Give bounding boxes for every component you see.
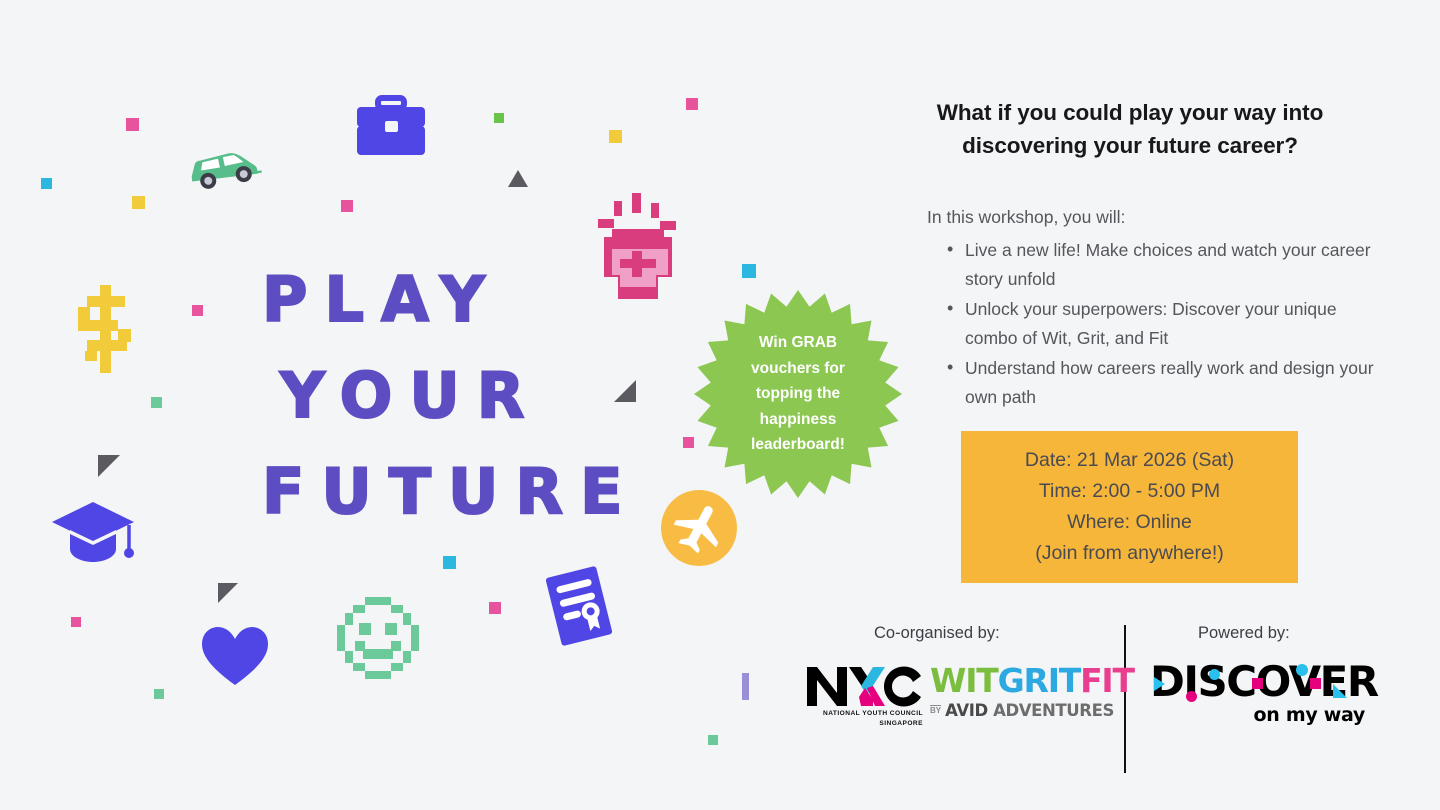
badge-line-5: leaderboard! (751, 432, 845, 458)
wgf-avid-adventures: AVID ADVENTURES (945, 701, 1114, 720)
confetti-square (154, 689, 164, 699)
confetti-triangle (218, 583, 238, 603)
prize-badge-text: Win GRAB vouchers for topping the happin… (692, 288, 904, 500)
nyc-logo: NATIONAL YOUTH COUNCIL SINGAPORE (805, 664, 923, 728)
confetti-square (609, 130, 622, 143)
confetti-square (341, 200, 353, 212)
poster-canvas: PLAY YOUR FUTURE Win GRAB vouchers for t… (0, 0, 1440, 810)
discover-logo: DISCOVER on my way (1150, 658, 1365, 726)
confetti-square (132, 196, 145, 209)
title-line-1: PLAY (262, 252, 682, 348)
badge-line-2: vouchers for (751, 356, 845, 382)
discover-accent-dot-cyan-2 (1296, 664, 1308, 676)
powered-by-label: Powered by: (1198, 624, 1290, 643)
discover-wordmark: DISCOVER (1150, 658, 1365, 706)
confetti-square (443, 556, 456, 569)
intro-text: In this workshop, you will: (927, 203, 1380, 232)
wgf-adventures: ADVENTURES (993, 701, 1114, 720)
badge-line-4: happiness (760, 407, 837, 433)
list-item: Unlock your superpowers: Discover your u… (947, 295, 1380, 353)
confetti-square (686, 98, 698, 110)
confetti-square (708, 735, 718, 745)
discover-accent-triangle-right (1333, 684, 1347, 698)
heart-icon (200, 625, 270, 687)
poster-title: PLAY YOUR FUTURE (262, 252, 682, 540)
witgritfit-byline: BY AVID ADVENTURES (930, 701, 1134, 720)
badge-line-1: Win GRAB (759, 330, 837, 356)
title-line-2: YOUR (262, 348, 682, 444)
discover-accent-square-magenta-2 (1310, 678, 1321, 689)
content-column: What if you could play your way into dis… (880, 96, 1380, 413)
benefits-list: Live a new life! Make choices and watch … (947, 236, 1380, 412)
badge-line-3: topping the (756, 381, 840, 407)
smiley-pixel-icon (335, 595, 420, 680)
event-location-note: (Join from anywhere!) (1035, 538, 1224, 569)
witgritfit-wordmark: WITGRITFIT (930, 664, 1134, 698)
wgf-fit: FIT (1080, 661, 1134, 700)
co-organised-label: Co-organised by: (874, 624, 1000, 643)
car-icon (185, 143, 265, 193)
discover-accent-dot-cyan-1 (1209, 669, 1220, 680)
event-time: Time: 2:00 - 5:00 PM (1039, 476, 1220, 507)
confetti-square (742, 264, 756, 278)
confetti-square (489, 602, 501, 614)
confetti-square (151, 397, 162, 408)
discover-tagline: on my way (1150, 704, 1365, 726)
confetti-square (192, 305, 203, 316)
title-line-3: FUTURE (262, 444, 682, 540)
headline-line-2: discovering your future career? (880, 129, 1380, 162)
confetti-triangle (98, 455, 120, 477)
nyc-sub-line-1: NATIONAL YOUTH COUNCIL (805, 709, 923, 719)
discover-accent-dot-magenta-1 (1186, 691, 1197, 702)
confetti-square (71, 617, 81, 627)
event-details-box: Date: 21 Mar 2026 (Sat) Time: 2:00 - 5:0… (961, 431, 1298, 583)
event-location: Where: Online (1067, 507, 1192, 538)
list-item: Understand how careers really work and d… (947, 354, 1380, 412)
confetti-triangle (508, 170, 528, 187)
nyc-sub-line-2: SINGAPORE (805, 719, 923, 729)
nyc-logo-mark (805, 664, 923, 708)
wgf-wit: WIT (930, 661, 998, 700)
wgf-avid: AVID (945, 701, 988, 720)
witgritfit-logo: WITGRITFIT BY AVID ADVENTURES (930, 664, 1134, 720)
wgf-by: BY (930, 705, 941, 716)
discover-accent-triangle-left (1154, 677, 1165, 691)
list-item: Live a new life! Make choices and watch … (947, 236, 1380, 294)
discover-accent-square-magenta (1252, 678, 1263, 689)
headline: What if you could play your way into dis… (880, 96, 1380, 162)
graduation-cap-icon (50, 500, 136, 568)
headline-line-1: What if you could play your way into (880, 96, 1380, 129)
dollar-pixel-icon (71, 285, 141, 373)
briefcase-icon (355, 95, 427, 157)
confetti-bar (742, 673, 749, 700)
event-date: Date: 21 Mar 2026 (Sat) (1025, 445, 1234, 476)
confetti-square (494, 113, 504, 123)
prize-badge: Win GRAB vouchers for topping the happin… (692, 288, 904, 500)
footer: Co-organised by: Powered by: (860, 620, 1400, 780)
confetti-square (41, 178, 52, 189)
certificate-icon (540, 565, 618, 647)
wgf-grit: GRIT (998, 661, 1081, 700)
confetti-square (126, 118, 139, 131)
